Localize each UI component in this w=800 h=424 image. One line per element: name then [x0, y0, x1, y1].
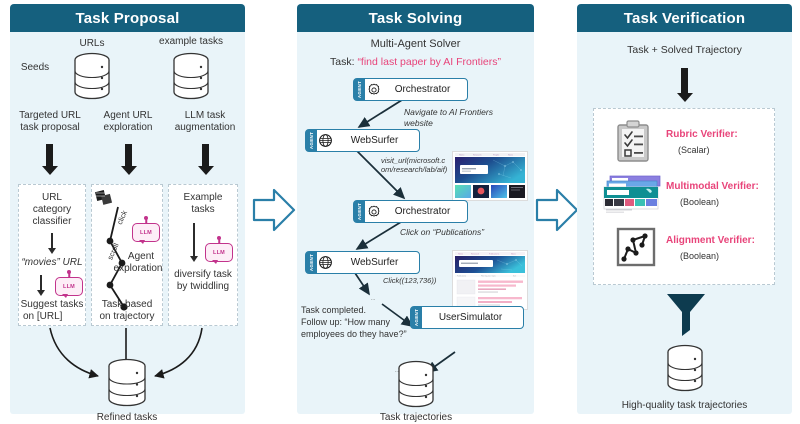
method-label-2-line1: Agent URL: [89, 110, 167, 122]
connector-arrow-proposal-to-solving: [252, 186, 296, 234]
panel-task-solving-title: Task Solving: [369, 10, 463, 27]
col1-step1-line3: classifier: [19, 216, 85, 228]
agent-badge-text: AGENT: [309, 254, 314, 271]
method-label-1-line2: task proposal: [10, 122, 90, 134]
globe-icon: [317, 133, 334, 148]
method-box-targeted-url: URL category classifier “movies” URL LLM…: [18, 184, 86, 326]
label-task-solved-trajectory: Task + Solved Trajectory: [577, 44, 792, 56]
col3-arrow-1: [193, 223, 195, 257]
verifier-type-rubric: (Scalar): [678, 144, 778, 156]
verifier-name-alignment: Alignment Verifier:: [666, 235, 776, 247]
col3-example-line1: Example: [169, 192, 237, 204]
action-visit-url-line1: visit_url(microsoft.c: [381, 156, 461, 165]
col2-task-line2: on trajectory: [92, 311, 162, 323]
agent-label: Orchestrator: [382, 84, 467, 95]
label-seeds: Seeds: [12, 62, 58, 74]
agent-node-orchestrator-2[interactable]: AGENT Orchestrator: [353, 200, 468, 223]
agent-node-websurfer-2[interactable]: AGENT WebSurfer: [305, 251, 420, 274]
agent-node-websurfer-1[interactable]: AGENT WebSurfer: [305, 129, 420, 152]
panel-task-verification-header: Task Verification: [577, 4, 792, 32]
edge-caption-click-publications: Click on “Publications”: [400, 226, 532, 238]
label-high-quality-trajectories: High-quality task trajectories: [577, 400, 792, 412]
database-icon-task-trajectories: [396, 360, 436, 408]
subtitle-multi-agent-solver: Multi-Agent Solver: [297, 38, 534, 50]
verifier-row-alignment[interactable]: Alignment Verifier: (Boolean): [594, 225, 774, 277]
col1-step3-line2: on [URL]: [23, 311, 85, 323]
followup-line1: Task completed.: [301, 304, 421, 316]
connector-arrow-solving-to-verification: [535, 186, 579, 234]
method-label-3-line1: LLM task: [165, 110, 245, 122]
panel-task-proposal-body: URLs example tasks Seeds: [10, 32, 245, 414]
llm-badge-col2-text: LLM: [140, 230, 152, 236]
svg-text:Research: Research: [471, 252, 479, 255]
verification-input-arrow: [681, 68, 688, 94]
col1-arrow-1: [51, 233, 53, 249]
verifier-row-rubric[interactable]: Rubric Verifier: (Scalar): [594, 115, 774, 171]
followup-line3: employees do they have?”: [301, 328, 431, 340]
agent-badge: AGENT: [306, 252, 317, 273]
agent-badge-text: AGENT: [357, 81, 362, 98]
followup-line2: Follow up: “How many: [301, 316, 425, 328]
svg-text:Publications: Publications: [457, 275, 466, 278]
col2-click-label: click: [113, 206, 130, 230]
funnel-icon: [665, 292, 707, 341]
llm-badge-col2: LLM: [132, 223, 160, 242]
agent-badge-text: AGENT: [309, 132, 314, 149]
svg-text:Research: Research: [473, 154, 482, 156]
agent-node-usersimulator[interactable]: AGENT UserSimulator: [410, 306, 524, 329]
agent-label: WebSurfer: [334, 135, 419, 146]
panel-task-solving: Task Solving Multi-Agent Solver Task: “f…: [297, 4, 534, 414]
col2-agent-line2: exploration: [112, 263, 164, 275]
col3-diversify-line2: by twiddling: [169, 281, 237, 293]
svg-text:Publications: Publications: [489, 252, 499, 255]
panel-task-verification-title: Task Verification: [624, 10, 746, 27]
task-statement: Task: “find last paper by AI Frontiers”: [297, 56, 534, 68]
col1-step2: “movies” URL: [19, 257, 85, 269]
trajectory-graph-icon: [616, 227, 656, 272]
col2-agent-line1: Agent: [120, 251, 162, 263]
edge-caption-navigate-line2: website: [404, 117, 529, 129]
diagram-canvas: Task Proposal URLs example tasks Seeds: [0, 0, 800, 421]
flow-arrow-2: [125, 144, 132, 167]
svg-text:Filter by year / topic: Filter by year / topic: [481, 275, 496, 278]
label-urls: URLs: [62, 38, 122, 50]
panel-task-proposal-title: Task Proposal: [75, 10, 179, 27]
database-icon-refined-tasks: [106, 358, 148, 408]
verifier-name-multimodal: Multimodal Verifier:: [666, 181, 776, 193]
agent-label: UserSimulator: [422, 312, 523, 323]
method-label-1-line1: Targeted URL: [10, 110, 90, 122]
svg-text:People: People: [493, 154, 500, 156]
verifiers-container: Rubric Verifier: (Scalar): [593, 108, 775, 285]
database-icon-high-quality-trajectories: [665, 344, 705, 392]
agent-badge: AGENT: [354, 79, 365, 100]
panel-task-verification-body: Task + Solved Trajectory: [577, 32, 792, 414]
database-icon-example-tasks: [171, 52, 211, 100]
agent-node-orchestrator-1[interactable]: AGENT Orchestrator: [353, 78, 468, 101]
database-icon-urls: [72, 52, 112, 100]
gear-icon: [365, 205, 382, 219]
svg-text:...: ...: [371, 296, 375, 302]
screenshot-publications-page: HomeResearch PublicationsNews: [452, 250, 528, 310]
agent-badge: AGENT: [306, 130, 317, 151]
col3-example-line2: tasks: [169, 204, 237, 216]
method-box-agent-exploration: click scroll LLM Agent exploration Task …: [91, 184, 163, 326]
verifier-name-rubric: Rubric Verifier:: [666, 129, 774, 141]
llm-badge-col1: LLM: [55, 277, 83, 296]
verifier-type-alignment: (Boolean): [680, 250, 780, 262]
agent-badge: AGENT: [354, 201, 365, 222]
globe-icon: [317, 255, 334, 270]
agent-label: WebSurfer: [334, 257, 419, 268]
agent-label: Orchestrator: [382, 206, 467, 217]
col1-step1-line1: URL: [19, 192, 85, 204]
svg-text:News: News: [511, 253, 516, 255]
llm-badge-col3-text: LLM: [213, 250, 225, 256]
svg-text:Home: Home: [459, 154, 465, 156]
panel-task-proposal-header: Task Proposal: [10, 4, 245, 32]
llm-badge-col1-text: LLM: [63, 284, 75, 290]
svg-text:News: News: [508, 154, 513, 156]
method-label-2-line2: exploration: [89, 122, 167, 134]
flow-arrow-3: [202, 144, 209, 167]
col1-arrow-2: [40, 275, 42, 291]
label-example-tasks: example tasks: [148, 36, 234, 48]
panel-task-solving-header: Task Solving: [297, 4, 534, 32]
llm-badge-col3: LLM: [205, 243, 233, 262]
screenshots-stack-icon: [602, 175, 664, 220]
gear-icon: [365, 83, 382, 97]
label-refined-tasks: Refined tasks: [67, 412, 187, 424]
agent-badge-text: AGENT: [414, 309, 419, 326]
verifier-row-multimodal[interactable]: Multimodal Verifier: (Boolean): [594, 171, 774, 223]
label-task-trajectories: Task trajectories: [355, 412, 477, 424]
task-quote: “find last paper by AI Frontiers”: [357, 56, 501, 68]
verifier-type-multimodal: (Boolean): [680, 196, 780, 208]
panel-task-solving-body: Multi-Agent Solver Task: “find last pape…: [297, 32, 534, 414]
agent-badge-text: AGENT: [357, 203, 362, 220]
method-label-3-line2: augmentation: [165, 122, 245, 134]
col1-step1-line2: category: [19, 204, 85, 216]
col1-step3-line1: Suggest tasks: [19, 299, 85, 311]
col3-diversify-line1: diversify task: [169, 269, 237, 281]
method-box-llm-augmentation: Example tasks LLM diversify task by twid…: [168, 184, 238, 326]
panel-task-verification: Task Verification Task + Solved Trajecto…: [577, 4, 792, 414]
col2-task-line1: Task based: [92, 299, 162, 311]
svg-text:Home: Home: [458, 253, 463, 255]
action-visit-url-line2: om/research/lab/aif): [381, 165, 461, 174]
panel-task-proposal: Task Proposal URLs example tasks Seeds: [10, 4, 245, 414]
svg-text:Sort: Sort: [513, 275, 517, 278]
clipboard-checklist-icon: [616, 119, 650, 168]
agent-badge: AGENT: [411, 307, 422, 328]
flow-arrow-1: [46, 144, 53, 167]
task-prefix: Task:: [330, 56, 355, 68]
screenshot-ai-frontiers-home: HomeResearch PeopleNews: [452, 151, 528, 201]
